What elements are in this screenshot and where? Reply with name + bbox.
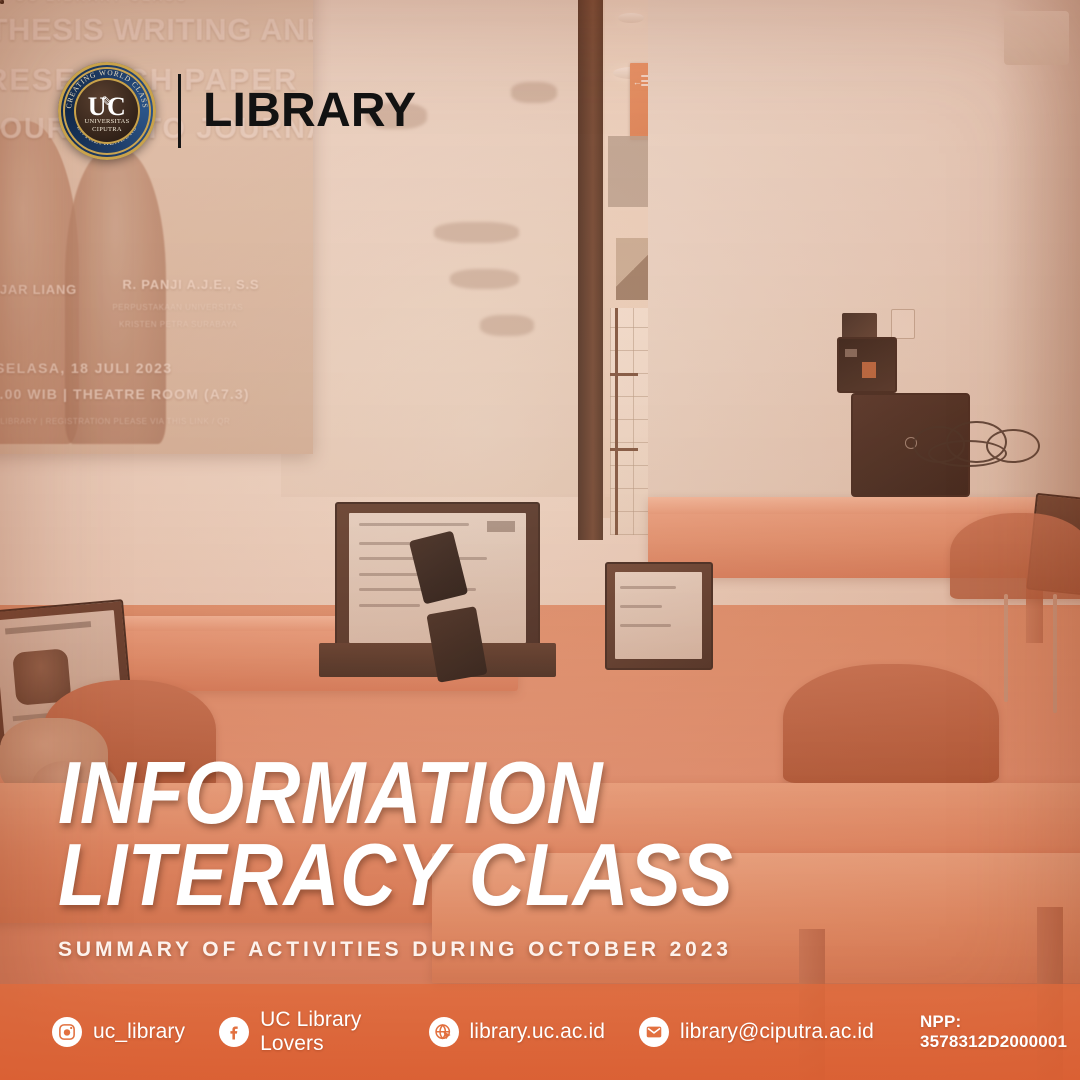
facebook-icon — [219, 1017, 249, 1047]
contact-email[interactable]: library@ciputra.ac.id — [639, 1017, 874, 1047]
window-mullion — [610, 448, 638, 451]
npp-registration-number: NPP: 3578312D2000001 — [920, 1012, 1080, 1052]
poster-canvas: UC LIBRARY CLASS THESIS WRITING AND RESE… — [0, 0, 1080, 1080]
brand-lockup: CREATING WORLD CLASS ENTREPRENEURS ✎ UC … — [58, 62, 416, 160]
slide-speaker-two-role-line1: PERPUSTAKAAN UNIVERSITAS — [112, 304, 243, 312]
contact-facebook[interactable]: UC Library Lovers — [219, 1008, 394, 1056]
headline-line-1: INFORMATION — [58, 752, 733, 834]
seal-ciputra-text: CIPUTRA — [92, 126, 122, 133]
email-address: library@ciputra.ac.id — [680, 1020, 874, 1044]
chair-leg — [1053, 594, 1057, 713]
slide-speaker-two: R. PANJI A.J.E., S.S — [122, 278, 259, 292]
slide-room: 09.00 WIB | THEATRE ROOM (A7.3) — [0, 387, 250, 402]
slide-date: SELASA, 18 JULI 2023 — [0, 361, 173, 376]
instagram-icon — [52, 1017, 82, 1047]
seal-universitas-text: UNIVERSITAS — [85, 118, 130, 125]
door-frame — [578, 0, 603, 540]
back-table-edge — [648, 497, 1080, 514]
wall-socket-light — [891, 309, 915, 339]
slide-kicker: UC LIBRARY CLASS — [15, 0, 188, 4]
universitas-ciputra-seal-logo: CREATING WORLD CLASS ENTREPRENEURS ✎ UC … — [58, 62, 156, 160]
seal-inner-disc: ✎ UC UNIVERSITAS CIPUTRA — [74, 78, 140, 144]
cable-bundle — [907, 416, 1058, 475]
arrow-left-icon: ← — [633, 78, 642, 87]
ceiling-light — [618, 13, 644, 23]
brand-name-library: LIBRARY — [203, 87, 416, 135]
slide-speaker-one: FAJAR LIANG — [0, 283, 77, 297]
chair-leg — [1004, 594, 1008, 702]
window-mullion — [615, 308, 618, 535]
website-url: library.uc.ac.id — [470, 1020, 606, 1044]
instagram-handle: uc_library — [93, 1020, 185, 1044]
device-on-wall — [837, 337, 897, 393]
contact-footer-bar: uc_library UC Library Lovers library.uc.… — [0, 984, 1080, 1080]
email-icon — [639, 1017, 669, 1047]
quill-pen-icon: ✎ — [101, 95, 114, 110]
contact-instagram[interactable]: uc_library — [52, 1017, 185, 1047]
chair — [950, 513, 1080, 599]
corridor-beige-panel — [616, 238, 653, 301]
window-mullion — [610, 373, 638, 376]
brand-divider — [178, 74, 181, 148]
website-icon — [429, 1017, 459, 1047]
air-conditioner — [1004, 11, 1069, 65]
slide-speaker-two-role-line2: KRISTEN PETRA SURABAYA — [119, 321, 237, 329]
headline-line-2: LITERACY CLASS — [58, 834, 733, 916]
facebook-page-name: UC Library Lovers — [260, 1008, 394, 1056]
slide-heading-line1: THESIS WRITING AND — [0, 14, 313, 47]
headline-subtitle: SUMMARY OF ACTIVITIES DURING OCTOBER 202… — [58, 938, 825, 962]
slide-footnote: UC LIBRARY | REGISTRATION PLEASE VIA THI… — [0, 418, 230, 426]
contact-website[interactable]: library.uc.ac.id — [429, 1017, 606, 1047]
right-laptop — [605, 562, 713, 670]
headline-block: INFORMATION LITERACY CLASS SUMMARY OF AC… — [58, 752, 825, 962]
